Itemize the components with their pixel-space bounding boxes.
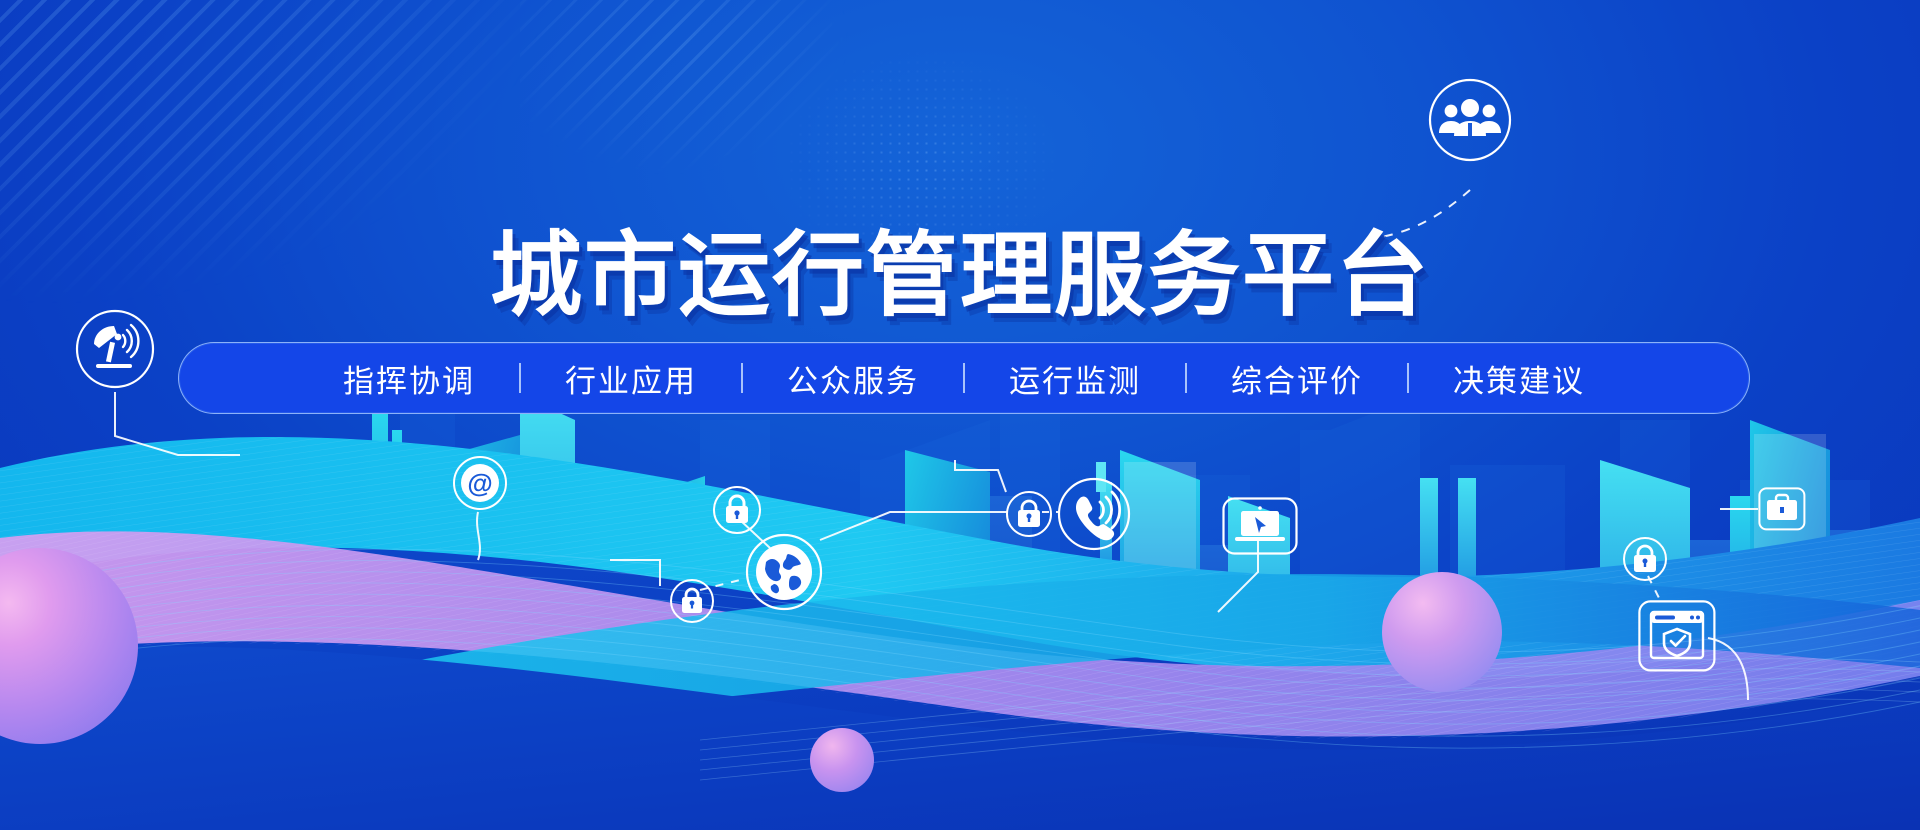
- city-operation-banner: @: [0, 0, 1920, 830]
- lock-icon-4: [1622, 536, 1668, 582]
- globe-icon: [744, 532, 824, 612]
- nav-item-public-service[interactable]: 公众服务: [743, 356, 963, 401]
- page-title: 城市运行管理服务平台: [490, 230, 1430, 322]
- phone-call-icon: [1056, 476, 1132, 552]
- lock-icon-3: [1005, 490, 1053, 538]
- at-email-icon: @: [452, 455, 508, 511]
- primary-nav-bar[interactable]: 指挥协调 行业应用 公众服务 运行监测 综合评价 决策建议: [178, 342, 1750, 414]
- nav-item-industry-application[interactable]: 行业应用: [521, 356, 741, 401]
- lock-icon-1: [712, 485, 762, 535]
- nav-items-container: 指挥协调 行业应用 公众服务 运行监测 综合评价 决策建议: [299, 356, 1629, 401]
- nav-item-comprehensive-evaluation[interactable]: 综合评价: [1187, 356, 1407, 401]
- browser-shield-icon: [1638, 600, 1716, 672]
- wave-decoration-layer: [0, 410, 1920, 830]
- gradient-sphere-bottom: [810, 728, 874, 792]
- svg-text:@: @: [467, 468, 492, 498]
- group-people-icon: [1428, 78, 1512, 162]
- laptop-cursor-icon: [1222, 497, 1298, 555]
- briefcase-icon: [1758, 487, 1806, 531]
- nav-item-operation-monitoring[interactable]: 运行监测: [965, 356, 1185, 401]
- lock-icon-2: [669, 578, 715, 624]
- nav-item-decision-advice[interactable]: 决策建议: [1409, 356, 1629, 401]
- nav-item-command-coordination[interactable]: 指挥协调: [299, 356, 519, 401]
- gradient-sphere-right: [1382, 572, 1502, 692]
